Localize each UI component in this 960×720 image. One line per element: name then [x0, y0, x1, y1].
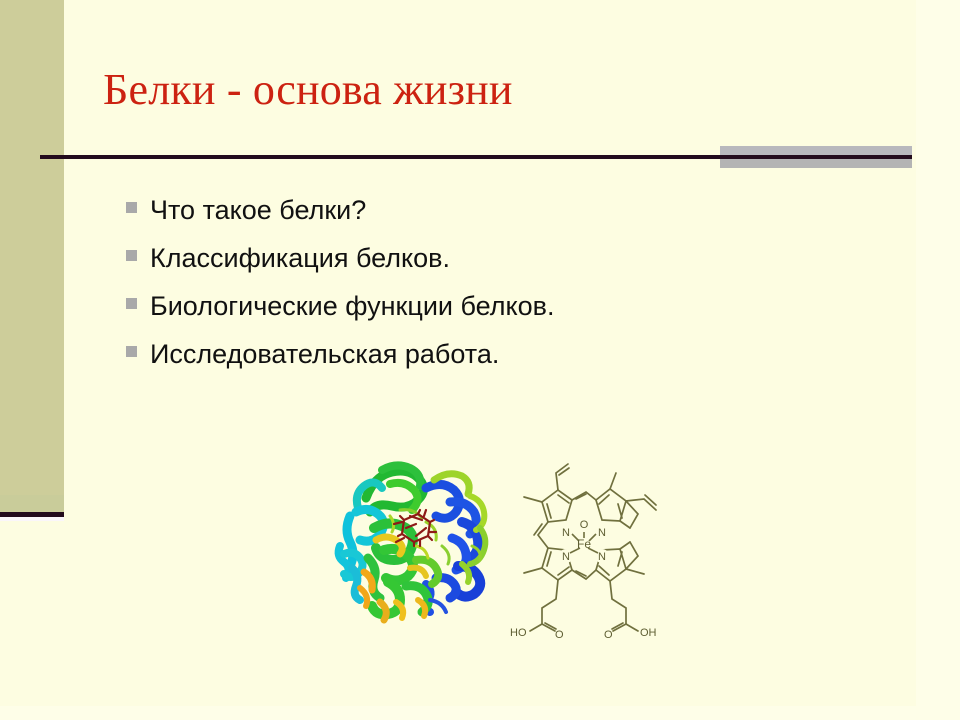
heme-structural-formula: O Fe N N N N HO O O OH [498, 452, 670, 644]
bullet-list: Что такое белки? Классификация белков. Б… [126, 188, 886, 380]
square-bullet-icon [126, 202, 137, 213]
title-underline-rule [40, 155, 912, 159]
list-item-label: Классификация белков. [150, 236, 450, 280]
atom-label-nitrogen-1: N [562, 527, 570, 539]
sidebar-accent-stripe [0, 0, 64, 512]
list-item[interactable]: Биологические функции белков. [126, 284, 886, 332]
page-title: Белки - основа жизни [103, 64, 903, 116]
list-item[interactable]: Исследовательская работа. [126, 332, 886, 380]
atom-label-nitrogen-4: N [598, 551, 606, 563]
atom-label-carboxyl-left-hydroxyl: HO [510, 627, 527, 639]
atom-label-carboxyl-right-oxygen: O [604, 629, 613, 641]
atom-label-iron: Fe [577, 537, 591, 551]
square-bullet-icon [126, 346, 137, 357]
list-item[interactable]: Что такое белки? [126, 188, 886, 236]
figure-group: O Fe N N N N HO O O OH [330, 450, 670, 650]
slide-bottom-edge-band [0, 706, 960, 720]
sidebar-accent-rule-highlight [0, 517, 64, 521]
title-rule-tab-highlight [720, 146, 912, 155]
atom-label-nitrogen-3: N [562, 551, 570, 563]
list-item-label: Исследовательская работа. [150, 332, 499, 376]
square-bullet-icon [126, 298, 137, 309]
atom-label-oxygen-axial: O [580, 519, 589, 531]
atom-label-carboxyl-right-hydroxyl: OH [640, 627, 657, 639]
sidebar-accent-stripe-shade [0, 495, 64, 512]
protein-ribbon-diagram [330, 450, 505, 630]
list-item[interactable]: Классификация белков. [126, 236, 886, 284]
slide-right-edge-band [916, 0, 960, 720]
list-item-label: Биологические функции белков. [150, 284, 555, 328]
atom-label-nitrogen-2: N [598, 527, 606, 539]
list-item-label: Что такое белки? [150, 188, 366, 232]
slide-canvas: Белки - основа жизни Что такое белки? Кл… [0, 0, 960, 720]
square-bullet-icon [126, 250, 137, 261]
atom-label-carboxyl-left-oxygen: O [555, 629, 564, 641]
